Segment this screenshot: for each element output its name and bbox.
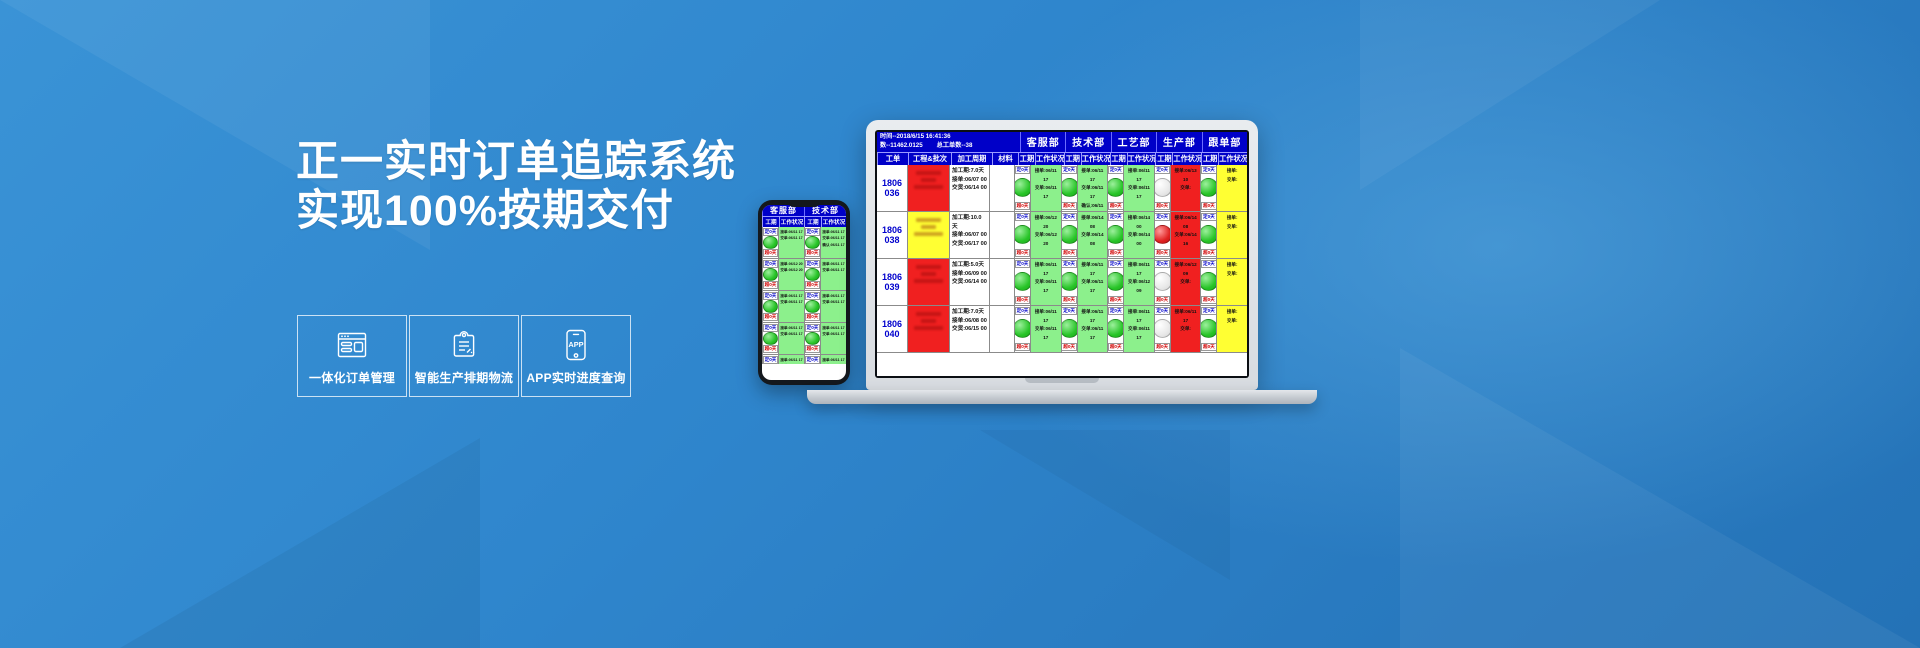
- table-row[interactable]: 1806039加工期:5.0天接单:06/09 00交货:06/14 00定0天…: [877, 259, 1247, 306]
- material-cell: [989, 165, 1014, 211]
- duration-tag-top: 定0天: [763, 260, 778, 268]
- work-status-cell-技术部: 接单:06/11 17交单:06/11 17: [1077, 259, 1108, 305]
- feature-card-app-tracking[interactable]: APP APP实时进度查询: [521, 315, 631, 397]
- duration-tag-bottom: 超0天: [1154, 296, 1169, 304]
- material-cell: [989, 306, 1014, 352]
- mobile-work-status-cell: 接单:06/11 17交单:06/11 17: [778, 323, 804, 354]
- table-row[interactable]: 1806036加工期:7.0天接单:06/07 00交货:06/14 00定0天…: [877, 165, 1247, 212]
- laptop-mockup: 时间--2018/6/15 16:41:36 数--11462.0125 总工单…: [866, 120, 1317, 404]
- mobile-work-status-cell: 接单:06/11 17交单:06/11 17: [820, 355, 846, 364]
- mobile-duration-cell: 定0天超0天: [762, 227, 778, 258]
- duration-tag-top: 定0天: [1201, 213, 1216, 221]
- svg-text:APP: APP: [568, 340, 583, 349]
- project-batch-cell: [907, 165, 949, 211]
- hero-copy: 正一实时订单追踪系统 实现100%按期交付: [296, 138, 716, 236]
- duration-tag-top: 定0天: [805, 324, 820, 332]
- clipboard-schedule-icon: [449, 325, 479, 365]
- duration-cell-技术部: 定0天超0天: [1061, 259, 1077, 305]
- order-number: 1806039: [877, 259, 907, 305]
- mobile-app-icon: APP: [564, 325, 588, 365]
- status-light-green: [1061, 319, 1077, 338]
- bg-facet: [1360, 0, 1660, 190]
- duration-tag-top: 定0天: [805, 260, 820, 268]
- status-light-green: [805, 332, 820, 345]
- processing-cycle-cell: 加工期:10.0天接单:06/07 00交货:06/17 00: [949, 212, 989, 258]
- duration-tag-bottom: 超0天: [1061, 202, 1076, 210]
- mobile-column-header-status: 工作状况: [779, 217, 804, 227]
- duration-tag-top: 定0天: [1108, 166, 1123, 174]
- duration-tag-top: 定0天: [1015, 213, 1030, 221]
- duration-tag-bottom: 超0天: [805, 249, 820, 257]
- mobile-duration-cell: 定0天超0天: [762, 291, 778, 322]
- status-light-green: [1061, 225, 1077, 244]
- hero-banner: 正一实时订单追踪系统 实现100%按期交付 一体化订单管理: [0, 0, 1920, 648]
- dashboard-layout-icon: [336, 325, 368, 365]
- column-header-mat: 材料: [992, 153, 1018, 165]
- department-header-跟单部: 跟单部: [1202, 132, 1247, 152]
- mobile-duration-cell: 定0天超0天: [804, 259, 820, 290]
- work-status-cell-生产部: 接单:06/11 17交单:: [1170, 306, 1201, 352]
- work-status-cell-技术部: 接单:06/11 17交单:06/11 17确认:06/11 17: [1077, 165, 1108, 211]
- mobile-work-status-cell: 接单:06/12 20交单:06/12 20: [778, 259, 804, 290]
- duration-tag-bottom: 超0天: [1108, 202, 1123, 210]
- duration-tag-top: 定0天: [1201, 307, 1216, 315]
- status-light-green: [1061, 272, 1077, 291]
- bg-facet: [980, 430, 1230, 580]
- status-light-green: [805, 268, 820, 281]
- status-light-green: [763, 236, 778, 249]
- duration-tag-bottom: 超0天: [763, 281, 778, 289]
- duration-tag-top: 定0天: [1108, 260, 1123, 268]
- duration-cell-客服部: 定0天超0天: [1014, 165, 1030, 211]
- duration-tag-bottom: 超0天: [1061, 249, 1076, 257]
- project-batch-cell: [907, 306, 949, 352]
- status-light-green: [1107, 225, 1123, 244]
- duration-cell-技术部: 定0天超0天: [1061, 212, 1077, 258]
- mobile-table-row[interactable]: 定0天超0天接单:06/11 17交单:06/11 17定0天超0天接单:06/…: [762, 227, 846, 259]
- duration-tag-top: 定0天: [763, 228, 778, 236]
- duration-tag-bottom: 超0天: [1201, 343, 1216, 351]
- duration-tag-top: 定0天: [1061, 307, 1076, 315]
- status-light-green: [1200, 272, 1216, 291]
- duration-cell-技术部: 定0天超0天: [1061, 306, 1077, 352]
- work-status-cell-技术部: 接单:06/14 08交单:06/14 08: [1077, 212, 1108, 258]
- feature-label: APP实时进度查询: [526, 369, 625, 386]
- dashboard-time: 时间--2018/6/15 16:41:36: [880, 133, 1017, 142]
- department-header-技术部: 技术部: [1065, 132, 1110, 152]
- status-light-green: [1107, 272, 1123, 291]
- duration-tag-top: 定0天: [1154, 307, 1169, 315]
- duration-tag-top: 定0天: [1108, 213, 1123, 221]
- duration-tag-top: 定0天: [805, 228, 820, 236]
- work-status-cell-跟单部: 接单:交单:: [1216, 259, 1247, 305]
- laptop-screen: 时间--2018/6/15 16:41:36 数--11462.0125 总工单…: [877, 132, 1247, 376]
- department-header-客服部: 客服部: [1020, 132, 1065, 152]
- status-light-green: [1014, 319, 1030, 338]
- work-status-cell-客服部: 接单:06/11 17交单:06/11 17: [1030, 306, 1061, 352]
- work-status-cell-跟单部: 接单:交单:: [1216, 165, 1247, 211]
- project-batch-cell: [907, 212, 949, 258]
- dashboard-total-orders: 总工单数--38: [937, 142, 973, 151]
- mobile-table-row[interactable]: 定0天超0天接单:06/11 17交单:06/11 17定0天超0天接单:06/…: [762, 323, 846, 355]
- status-light-green: [763, 332, 778, 345]
- duration-cell-客服部: 定0天超0天: [1014, 259, 1030, 305]
- duration-tag-bottom: 超0天: [1015, 202, 1030, 210]
- duration-cell-生产部: 定0天超0天: [1154, 212, 1170, 258]
- order-number: 1806036: [877, 165, 907, 211]
- column-header-duration: 工期: [1018, 153, 1035, 165]
- mobile-column-header-duration: 工期: [804, 217, 821, 227]
- processing-cycle-cell: 加工期:5.0天接单:06/09 00交货:06/14 00: [949, 259, 989, 305]
- duration-tag-bottom: 超0天: [805, 281, 820, 289]
- laptop-hinge-notch: [1025, 378, 1099, 383]
- duration-cell-工艺部: 定0天超0天: [1107, 259, 1123, 305]
- duration-tag-bottom: 超0天: [1201, 296, 1216, 304]
- duration-tag-top: 定0天: [763, 324, 778, 332]
- duration-tag-top: 定0天: [1015, 166, 1030, 174]
- mobile-duration-cell: 定0天超0天: [762, 259, 778, 290]
- status-light-green: [1200, 225, 1216, 244]
- mobile-work-status-cell: 接单:06/11 17交单:06/11 17确认:06/11 17: [820, 227, 846, 258]
- duration-tag-bottom: 超0天: [805, 313, 820, 321]
- duration-cell-跟单部: 定0天超0天: [1200, 306, 1216, 352]
- duration-tag-bottom: 超0天: [1154, 249, 1169, 257]
- feature-label: 一体化订单管理: [309, 369, 395, 386]
- duration-tag-top: 定0天: [1061, 260, 1076, 268]
- status-light-green: [1200, 319, 1216, 338]
- mobile-table-row[interactable]: 定0天超0天接单:06/11 17交单:06/11 17定0天超0天接单:06/…: [762, 355, 846, 364]
- column-header-cycle: 加工周期: [951, 153, 992, 165]
- duration-tag-bottom: 超0天: [1201, 249, 1216, 257]
- duration-tag-top: 定0天: [1015, 260, 1030, 268]
- feature-list: 一体化订单管理 智能生产排期物流: [297, 315, 633, 397]
- duration-tag-top: 定0天: [1108, 307, 1123, 315]
- order-number: 1806040: [877, 306, 907, 352]
- work-status-cell-跟单部: 接单:交单:: [1216, 306, 1247, 352]
- duration-cell-客服部: 定0天超0天: [1014, 306, 1030, 352]
- table-row[interactable]: 1806038加工期:10.0天接单:06/07 00交货:06/17 00定0…: [877, 212, 1247, 259]
- status-light-white: [1154, 178, 1170, 197]
- order-row-list: 1806036加工期:7.0天接单:06/07 00交货:06/14 00定0天…: [877, 165, 1247, 371]
- status-light-green: [1014, 272, 1030, 291]
- status-light-white: [1154, 272, 1170, 291]
- status-light-green: [763, 300, 778, 313]
- column-header-status: 工作状况: [1081, 153, 1110, 165]
- duration-cell-生产部: 定0天超0天: [1154, 259, 1170, 305]
- mobile-row-list: 定0天超0天接单:06/11 17交单:06/11 17定0天超0天接单:06/…: [762, 227, 846, 364]
- phone-notch: [787, 200, 821, 207]
- column-header-status: 工作状况: [1218, 153, 1247, 165]
- duration-cell-工艺部: 定0天超0天: [1107, 165, 1123, 211]
- department-header-生产部: 生产部: [1156, 132, 1201, 152]
- duration-cell-工艺部: 定0天超0天: [1107, 306, 1123, 352]
- dashboard-topbar: 时间--2018/6/15 16:41:36 数--11462.0125 总工单…: [877, 132, 1247, 152]
- department-row: 客服部技术部工艺部生产部跟单部: [1020, 132, 1247, 152]
- duration-tag-bottom: 超0天: [763, 345, 778, 353]
- status-light-green: [805, 236, 820, 249]
- mobile-work-status-cell: 接单:06/11 17交单:06/11 17: [778, 291, 804, 322]
- duration-tag-top: 定0天: [763, 356, 778, 364]
- mobile-work-status-cell: 接单:06/11 17交单:06/11 17: [778, 227, 804, 258]
- headline-line-2: 实现100%按期交付: [296, 187, 716, 236]
- duration-tag-top: 定0天: [1015, 307, 1030, 315]
- status-light-green: [805, 300, 820, 313]
- mobile-table-row[interactable]: 定0天超0天接单:06/11 17交单:06/11 17定0天超0天接单:06/…: [762, 291, 846, 323]
- duration-cell-工艺部: 定0天超0天: [1107, 212, 1123, 258]
- mobile-column-header-status: 工作状况: [821, 217, 846, 227]
- bg-facet: [120, 438, 480, 648]
- duration-cell-跟单部: 定0天超0天: [1200, 212, 1216, 258]
- work-status-cell-工艺部: 接单:06/11 17交单:06/12 09: [1123, 259, 1154, 305]
- duration-tag-bottom: 超0天: [1015, 296, 1030, 304]
- material-cell: [989, 259, 1014, 305]
- table-row[interactable]: 1806040加工期:7.0天接单:06/08 00交货:06/15 00定0天…: [877, 306, 1247, 353]
- duration-tag-top: 定0天: [1154, 260, 1169, 268]
- duration-tag-top: 定0天: [805, 292, 820, 300]
- mobile-duration-cell: 定0天超0天: [804, 227, 820, 258]
- duration-cell-生产部: 定0天超0天: [1154, 306, 1170, 352]
- duration-tag-bottom: 超0天: [763, 313, 778, 321]
- mobile-work-status-cell: 接单:06/11 17交单:06/11 17: [778, 355, 804, 364]
- mobile-duration-cell: 定0天超0天: [804, 291, 820, 322]
- duration-tag-bottom: 超0天: [1108, 296, 1123, 304]
- duration-tag-bottom: 超0天: [1201, 202, 1216, 210]
- work-status-cell-生产部: 接单:06/13 10交单:: [1170, 165, 1201, 211]
- phone-screen: 客服部技术部 工期工作状况工期工作状况 定0天超0天接单:06/11 17交单:…: [762, 205, 846, 380]
- duration-tag-bottom: 超0天: [1108, 343, 1123, 351]
- status-light-red: [1154, 225, 1170, 244]
- laptop-bezel: 时间--2018/6/15 16:41:36 数--11462.0125 总工单…: [875, 130, 1249, 378]
- feature-label: 智能生产排期物流: [415, 369, 513, 386]
- work-status-cell-工艺部: 接单:06/14 00交单:06/14 00: [1123, 212, 1154, 258]
- column-header-duration: 工期: [1155, 153, 1172, 165]
- headline-line-1: 正一实时订单追踪系统: [296, 138, 736, 186]
- duration-cell-技术部: 定0天超0天: [1061, 165, 1077, 211]
- duration-tag-top: 定0天: [1061, 213, 1076, 221]
- duration-tag-bottom: 超0天: [1154, 343, 1169, 351]
- column-header-status: 工作状况: [1035, 153, 1064, 165]
- duration-cell-跟单部: 定0天超0天: [1200, 165, 1216, 211]
- column-header-status: 工作状况: [1127, 153, 1156, 165]
- status-light-green: [1107, 319, 1123, 338]
- duration-tag-bottom: 超0天: [1015, 249, 1030, 257]
- status-light-green: [1107, 178, 1123, 197]
- duration-tag-top: 定0天: [1154, 213, 1169, 221]
- duration-cell-客服部: 定0天超0天: [1014, 212, 1030, 258]
- mobile-table-row[interactable]: 定0天超0天接单:06/12 20交单:06/12 20定0天超0天接单:06/…: [762, 259, 846, 291]
- column-header-duration: 工期: [1201, 153, 1218, 165]
- work-status-cell-客服部: 接单:06/12 20交单:06/12 20: [1030, 212, 1061, 258]
- mobile-work-status-cell: 接单:06/11 17交单:06/11 17: [820, 291, 846, 322]
- dashboard-meta: 时间--2018/6/15 16:41:36 数--11462.0125 总工单…: [877, 132, 1020, 152]
- order-number: 1806038: [877, 212, 907, 258]
- column-header-proj: 工程&批次: [908, 153, 951, 165]
- column-header-order: 工单: [877, 153, 908, 165]
- duration-tag-bottom: 超0天: [1108, 249, 1123, 257]
- mobile-duration-cell: 定0天超0天: [762, 355, 778, 364]
- project-batch-cell: [907, 259, 949, 305]
- mobile-duration-cell: 定0天超0天: [804, 323, 820, 354]
- duration-tag-bottom: 超0天: [1061, 296, 1076, 304]
- mobile-column-header: 工期工作状况工期工作状况: [762, 216, 846, 227]
- work-status-cell-生产部: 接单:06/12 09交单:: [1170, 259, 1201, 305]
- column-header-row: 工单工程&批次加工周期材料工期工作状况工期工作状况工期工作状况工期工作状况工期工…: [877, 152, 1247, 165]
- feature-card-production-scheduling[interactable]: 智能生产排期物流: [409, 315, 519, 397]
- duration-tag-top: 定0天: [1061, 166, 1076, 174]
- work-status-cell-技术部: 接单:06/11 17交单:06/11 17: [1077, 306, 1108, 352]
- dashboard-count: 数--11462.0125: [880, 142, 923, 151]
- department-header-工艺部: 工艺部: [1111, 132, 1156, 152]
- feature-card-order-management[interactable]: 一体化订单管理: [297, 315, 407, 397]
- work-status-cell-工艺部: 接单:06/11 17交单:06/11 17: [1123, 306, 1154, 352]
- page-title: 正一实时订单追踪系统 实现100%按期交付: [296, 138, 716, 236]
- column-header-duration: 工期: [1110, 153, 1127, 165]
- duration-cell-生产部: 定0天超0天: [1154, 165, 1170, 211]
- status-light-green: [1061, 178, 1077, 197]
- laptop-lid: 时间--2018/6/15 16:41:36 数--11462.0125 总工单…: [866, 120, 1258, 390]
- processing-cycle-cell: 加工期:7.0天接单:06/07 00交货:06/14 00: [949, 165, 989, 211]
- column-header-duration: 工期: [1064, 153, 1081, 165]
- duration-tag-bottom: 超0天: [1061, 343, 1076, 351]
- mobile-duration-cell: 定0天超0天: [762, 323, 778, 354]
- duration-tag-top: 定0天: [1201, 166, 1216, 174]
- status-light-green: [1014, 178, 1030, 197]
- laptop-base: [807, 390, 1317, 404]
- processing-cycle-cell: 加工期:7.0天接单:06/08 00交货:06/15 00: [949, 306, 989, 352]
- duration-tag-bottom: 超0天: [763, 249, 778, 257]
- bg-facet: [1400, 348, 1920, 648]
- duration-tag-top: 定0天: [805, 356, 820, 364]
- mobile-work-status-cell: 接单:06/11 17交单:06/11 17: [820, 323, 846, 354]
- status-light-green: [763, 268, 778, 281]
- work-status-cell-客服部: 接单:06/11 17交单:06/11 17: [1030, 259, 1061, 305]
- mobile-work-status-cell: 接单:06/11 17交单:06/11 17: [820, 259, 846, 290]
- duration-tag-top: 定0天: [763, 292, 778, 300]
- duration-tag-bottom: 超0天: [805, 345, 820, 353]
- work-status-cell-客服部: 接单:06/11 17交单:06/11 17: [1030, 165, 1061, 211]
- duration-tag-top: 定0天: [1201, 260, 1216, 268]
- order-tracking-dashboard: 时间--2018/6/15 16:41:36 数--11462.0125 总工单…: [877, 132, 1247, 376]
- duration-cell-跟单部: 定0天超0天: [1200, 259, 1216, 305]
- work-status-cell-工艺部: 接单:06/11 17交单:06/11 17: [1123, 165, 1154, 211]
- status-light-green: [1014, 225, 1030, 244]
- duration-tag-bottom: 超0天: [1154, 202, 1169, 210]
- status-light-white: [1154, 319, 1170, 338]
- column-header-status: 工作状况: [1172, 153, 1201, 165]
- material-cell: [989, 212, 1014, 258]
- work-status-cell-跟单部: 接单:交单:: [1216, 212, 1247, 258]
- duration-tag-bottom: 超0天: [1015, 343, 1030, 351]
- mobile-column-header-duration: 工期: [762, 217, 779, 227]
- mobile-dashboard: 客服部技术部 工期工作状况工期工作状况 定0天超0天接单:06/11 17交单:…: [762, 205, 846, 380]
- status-light-green: [1200, 178, 1216, 197]
- mobile-duration-cell: 定0天超0天: [804, 355, 820, 364]
- duration-tag-top: 定0天: [1154, 166, 1169, 174]
- phone-mockup: 客服部技术部 工期工作状况工期工作状况 定0天超0天接单:06/11 17交单:…: [758, 200, 850, 385]
- work-status-cell-生产部: 接单:06/14 08交单:06/14 16: [1170, 212, 1201, 258]
